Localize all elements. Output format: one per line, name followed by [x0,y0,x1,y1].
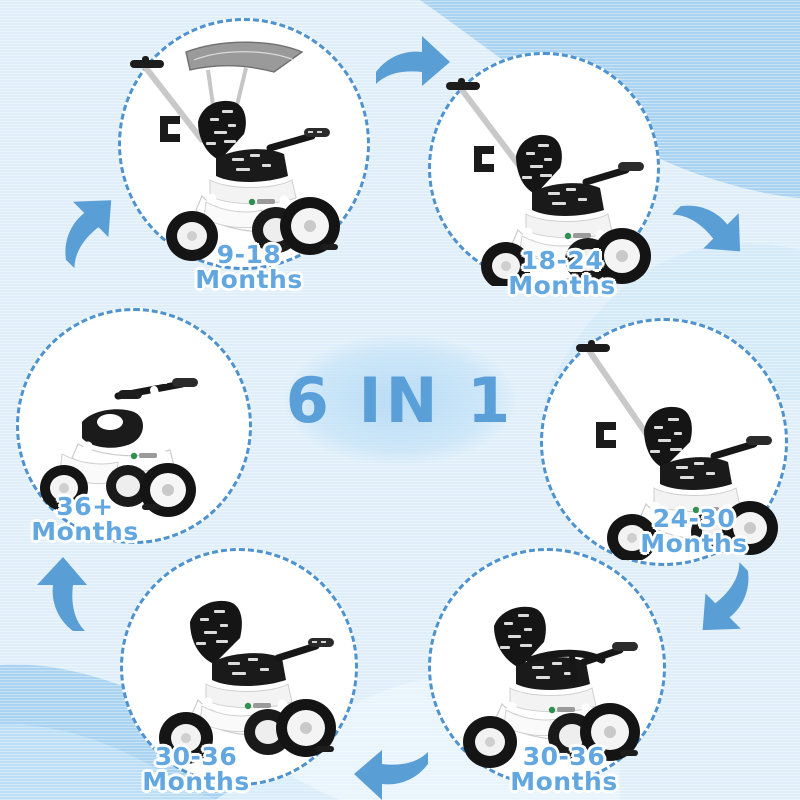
stage-age-range: 9-18 [154,242,344,267]
stage-unit: Months [98,769,294,794]
stage-card-30-36-left[interactable]: 30-36 Months [120,548,382,798]
arrow-right-icon [372,28,454,100]
stage-unit: Months [464,273,660,298]
stage-age-range: 36+ [10,494,160,519]
arrow-up-icon [22,548,108,644]
stage-card-30-36-right[interactable]: 30-36 Months [428,548,690,798]
stage-card-24-30[interactable]: 24-30 Months [540,318,798,566]
stage-age-range: 30-36 [466,744,662,769]
stage-card-18-24[interactable]: 18-24 Months [428,52,690,302]
stage-unit: Months [466,769,662,794]
stage-label-18-24: 18-24 Months [464,248,660,298]
center-title: 6 IN 1 [286,364,514,437]
center-badge: 6 IN 1 [272,330,528,470]
stage-label-36-plus: 36+ Months [10,494,160,544]
infographic-canvas: 6 IN 1 [0,0,800,800]
product-image-tricycle-with-canopy-and-push-handle [124,30,370,262]
stage-label-30-36-left: 30-36 Months [98,744,294,794]
stage-age-range: 24-30 [598,506,790,531]
arrow-left-icon [348,738,434,800]
stage-card-36-plus[interactable]: 36+ Months [16,308,266,558]
stage-card-9-18[interactable]: 9-18 Months [118,18,380,280]
stage-label-30-36-right: 30-36 Months [466,744,662,794]
stage-unit: Months [154,267,344,292]
arrow-down-right-icon [666,190,752,276]
stage-label-9-18: 9-18 Months [154,242,344,292]
stage-unit: Months [10,519,160,544]
stage-age-range: 30-36 [98,744,294,769]
arrow-down-left-icon [678,556,764,642]
stage-age-range: 18-24 [464,248,660,273]
arrow-up-right-icon [44,184,136,276]
